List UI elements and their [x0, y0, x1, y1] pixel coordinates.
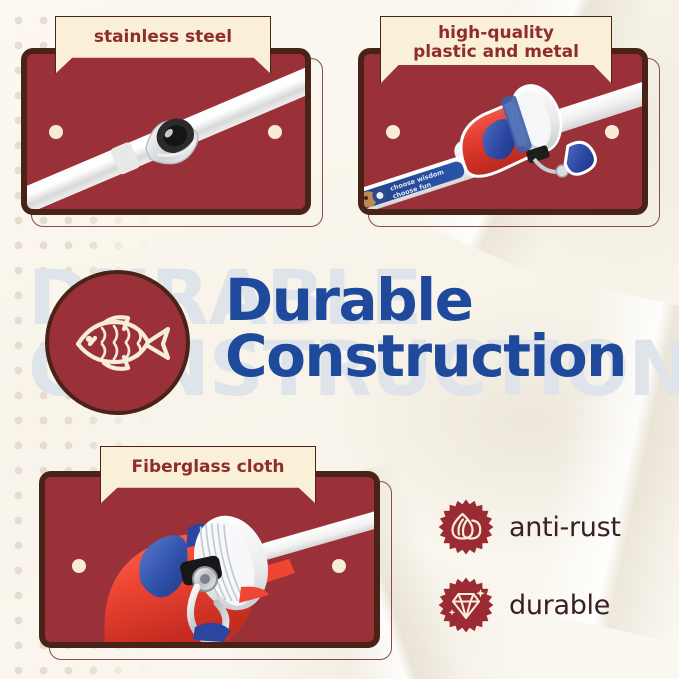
ribbon-label-line-2: plastic and metal: [413, 42, 579, 62]
diamond-gem-icon: [437, 576, 495, 634]
feature-list: anti-rust durable: [437, 489, 621, 645]
panel-eyelet: [72, 559, 86, 573]
reel-body-photo: [45, 477, 374, 642]
rod-guide-illustration: [27, 54, 305, 209]
reel-closeup-illustration: choose wisdom choose fun: [364, 54, 642, 209]
panel-frame-fiberglass-cloth: [39, 471, 380, 648]
panel-eyelet: [605, 125, 619, 139]
rod-guide-photo: [27, 54, 305, 209]
ribbon-label-line-1: high-quality: [438, 23, 554, 43]
feature-anti-rust: anti-rust: [437, 489, 621, 565]
infographic-root: DURABLE CONSTRUCTION: [0, 0, 679, 679]
panel-frame-stainless-steel: [21, 48, 311, 215]
reel-closeup-photo: choose wisdom choose fun: [364, 54, 642, 209]
durable-badge: [437, 576, 495, 634]
brand-logo-badge: [45, 270, 190, 415]
water-drop-shield-icon: [437, 498, 495, 556]
page-title-line-2: Construction: [225, 328, 626, 384]
panel-eyelet: [268, 125, 282, 139]
page-title: Durable Construction: [225, 272, 626, 385]
feature-label: anti-rust: [509, 512, 621, 543]
anti-rust-badge: [437, 498, 495, 556]
fish-eye: [85, 335, 91, 341]
panel-eyelet: [386, 125, 400, 139]
ribbon-label: stainless steel: [68, 28, 258, 61]
panel-eyelet: [332, 559, 346, 573]
feature-label: durable: [509, 590, 610, 621]
panel-eyelet: [49, 125, 63, 139]
ribbon-label: Fiberglass cloth: [106, 458, 311, 491]
fish-icon: [64, 306, 172, 380]
reel-body-illustration: [45, 477, 374, 642]
feature-durable: durable: [437, 567, 621, 643]
